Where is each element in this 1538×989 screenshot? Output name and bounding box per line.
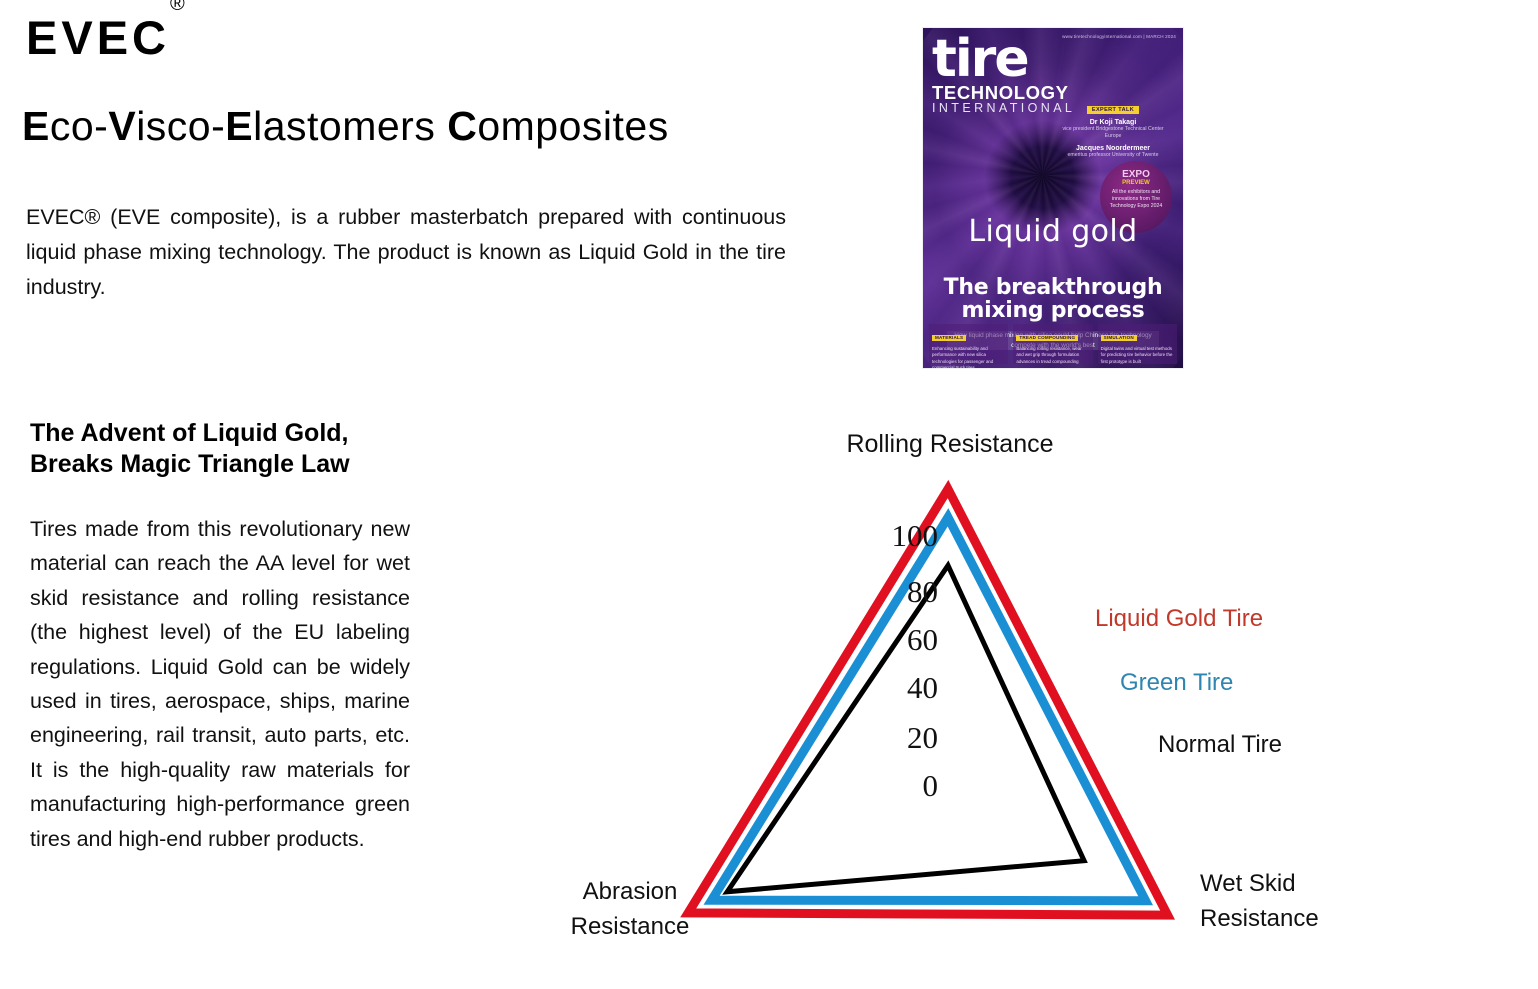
axis-label-wetskid-line1: Wet Skid [1200, 867, 1400, 902]
strip-item: TREAD COMPOUNDING Balancing rolling resi… [1013, 324, 1092, 364]
magazine-cover: www.tiretechnologyinternational.com | MA… [922, 27, 1184, 369]
strip-body: Balancing rolling resistance, wear and w… [1016, 346, 1089, 365]
article-heading: The Advent of Liquid Gold, Breaks Magic … [30, 418, 430, 481]
brand-tagline: Eco-Visco-Elastomers Composites [22, 104, 669, 149]
poster-page: EVEC® Eco-Visco-Elastomers Composites EV… [0, 0, 1538, 989]
tagline-cap-e1: E [22, 103, 50, 149]
cover-subtitle-line2: mixing process [923, 299, 1183, 322]
expert-talk-pill: EXPERT TALK [1087, 106, 1139, 114]
badge-preview: PREVIEW [1100, 180, 1172, 187]
legend-item-liquid-gold-tire: Liquid Gold Tire [1095, 605, 1263, 633]
axis-label-wetskid-line2: Resistance [1200, 902, 1400, 937]
expert-name-2: Jacques Noordermeer [1054, 145, 1172, 152]
strip-item: MATERIALS Enhancing sustainability and p… [929, 324, 1008, 364]
tagline-cap-c: C [447, 103, 477, 149]
article-heading-line1: The Advent of Liquid Gold, [30, 418, 430, 449]
expert-name-1: Dr Koji Takagi [1054, 119, 1172, 126]
tick-100: 100 [858, 518, 938, 554]
tick-80: 80 [858, 574, 938, 610]
tagline-seg-3: lastomers [253, 103, 447, 149]
tick-60: 60 [858, 622, 938, 658]
badge-expo: EXPO [1100, 170, 1172, 180]
masthead-tire: tire [932, 38, 1075, 81]
axis-label-wet-skid-resistance: Wet Skid Resistance [1200, 867, 1400, 937]
tagline-seg-2: isco- [136, 103, 225, 149]
strip-body: Enhancing sustainability and performance… [932, 346, 1005, 369]
brand-title: EVEC® [26, 14, 185, 61]
legend-item-green-tire: Green Tire [1120, 669, 1233, 697]
strip-heading: MATERIALS [932, 335, 966, 341]
axis-label-abrasion-line2: Resistance [540, 910, 720, 945]
expert-role-2: emeritus professor University of Twente [1054, 152, 1172, 159]
article-body: Tires made from this revolutionary new m… [30, 512, 410, 856]
cover-title: Liquid gold [923, 214, 1183, 249]
axis-label-abrasion-resistance: Abrasion Resistance [540, 875, 720, 945]
legend-item-normal-tire: Normal Tire [1158, 731, 1282, 759]
axis-label-abrasion-line1: Abrasion [540, 875, 720, 910]
strip-body: Digital twins and virtual test methods f… [1101, 346, 1174, 365]
registered-mark-icon: ® [170, 0, 185, 15]
cover-subtitle-line1: The breakthrough [923, 276, 1183, 299]
tick-40: 40 [858, 670, 938, 706]
cover-url-line: www.tiretechnologyinternational.com | MA… [1062, 34, 1176, 39]
cover-bottom-strip: MATERIALS Enhancing sustainability and p… [923, 324, 1183, 364]
brand-name: EVEC [26, 11, 170, 64]
tagline-cap-e2: E [225, 103, 253, 149]
tick-0: 0 [858, 768, 938, 804]
strip-item: SIMULATION Digital twins and virtual tes… [1098, 324, 1177, 364]
badge-body: All the exhibitors and innovations from … [1100, 187, 1172, 210]
strip-heading: TREAD COMPOUNDING [1016, 335, 1078, 341]
cover-subtitle: The breakthrough mixing process [923, 276, 1183, 323]
tagline-seg-4: omposites [477, 103, 668, 149]
tagline-seg-1: co- [50, 103, 108, 149]
intro-paragraph: EVEC® (EVE composite), is a rubber maste… [26, 200, 786, 304]
tagline-cap-v: V [108, 103, 136, 149]
article-heading-line2: Breaks Magic Triangle Law [30, 449, 430, 480]
expert-role-1: vice president Bridgestone Technical Cen… [1054, 126, 1172, 140]
strip-heading: SIMULATION [1101, 335, 1137, 341]
magic-triangle-chart: Rolling Resistance 100 80 60 40 20 0 Abr… [520, 420, 1530, 980]
cover-expert-block: EXPERT TALK Dr Koji Takagi vice presiden… [1054, 98, 1172, 159]
tick-20: 20 [858, 720, 938, 756]
